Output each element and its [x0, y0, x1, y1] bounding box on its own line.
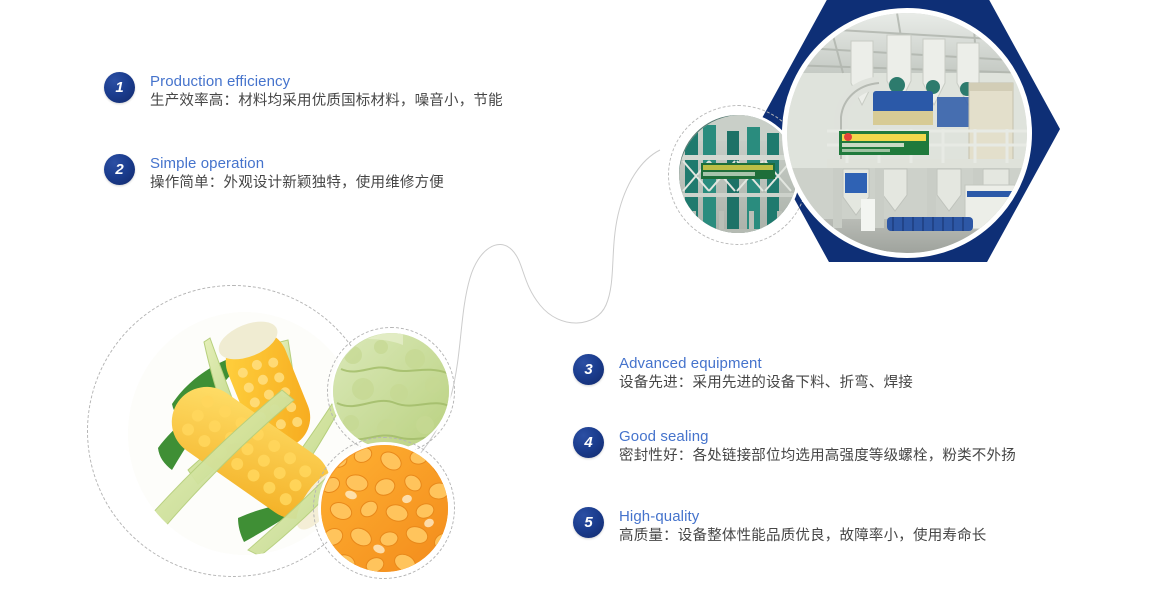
feature-title-2: Simple operation — [150, 155, 444, 173]
corn-kernels-grits-photo — [321, 445, 451, 575]
feature-desc-4: 密封性好：各处链接部位均选用高强度等级螺栓，粉类不外扬 — [619, 446, 1016, 467]
feature-title-1: Production efficiency — [150, 73, 503, 91]
corn-kernels-photo — [318, 442, 451, 575]
feature-title-4: Good sealing — [619, 428, 1016, 446]
feature-badge-2: 2 — [104, 154, 135, 185]
feature-text-3: Advanced equipment 设备先进：采用先进的设备下料、折弯、焊接 — [619, 354, 913, 394]
corn-flour-paste-photo — [333, 333, 451, 451]
feature-item-2[interactable]: 2 Simple operation 操作简单：外观设计新颖独特，使用维修方便 — [104, 154, 444, 194]
feature-badge-4: 4 — [573, 427, 604, 458]
feature-desc-1: 生产效率高：材料均采用优质国标材料，噪音小，节能 — [150, 91, 503, 112]
feature-desc-5: 高质量：设备整体性能品质优良，故障率小，使用寿命长 — [619, 526, 987, 547]
feature-badge-1: 1 — [104, 72, 135, 103]
feature-badge-5: 5 — [573, 507, 604, 538]
feature-text-2: Simple operation 操作简单：外观设计新颖独特，使用维修方便 — [150, 154, 444, 194]
feature-item-3[interactable]: 3 Advanced equipment 设备先进：采用先进的设备下料、折弯、焊… — [573, 354, 913, 394]
feature-text-1: Production efficiency 生产效率高：材料均采用优质国标材料，… — [150, 72, 503, 112]
corn-paste-photo — [331, 331, 451, 451]
feature-item-4[interactable]: 4 Good sealing 密封性好：各处链接部位均选用高强度等级螺栓，粉类不… — [573, 427, 1016, 467]
feature-title-5: High-quality — [619, 508, 987, 526]
flour-milling-plant-photo — [787, 13, 1027, 253]
feature-desc-2: 操作简单：外观设计新颖独特，使用维修方便 — [150, 173, 444, 194]
feature-item-1[interactable]: 1 Production efficiency 生产效率高：材料均采用优质国标材… — [104, 72, 503, 112]
feature-item-5[interactable]: 5 High-quality 高质量：设备整体性能品质优良，故障率小，使用寿命长 — [573, 507, 987, 547]
feature-title-3: Advanced equipment — [619, 355, 913, 373]
feature-badge-3: 3 — [573, 354, 604, 385]
infographic-stage: 1 Production efficiency 生产效率高：材料均采用优质国标材… — [0, 0, 1154, 591]
feature-desc-3: 设备先进：采用先进的设备下料、折弯、焊接 — [619, 373, 913, 394]
feature-text-4: Good sealing 密封性好：各处链接部位均选用高强度等级螺栓，粉类不外扬 — [619, 427, 1016, 467]
feature-text-5: High-quality 高质量：设备整体性能品质优良，故障率小，使用寿命长 — [619, 507, 987, 547]
machine-big-photo — [782, 8, 1032, 258]
